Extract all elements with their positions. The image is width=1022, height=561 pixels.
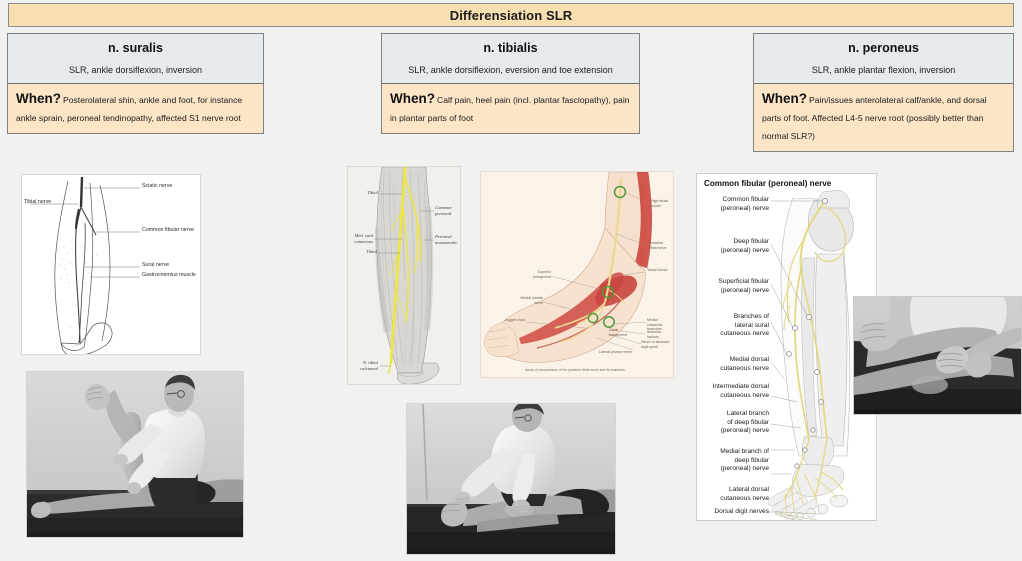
fib-label-intermediate-dorsal-cutaneous: Intermediate dorsal cutaneous nerve <box>697 383 769 400</box>
card-subtitle-peroneus: SLR, ankle plantar flexion, inversion <box>762 65 1005 75</box>
photo-slr-close-svg <box>854 297 1022 415</box>
figure-tarsal-tunnel-plate: High tarsal tunnel Posterior tibial nerv… <box>480 171 674 378</box>
photo-slr-test-ankle <box>406 403 616 555</box>
ts-label-joggers-foot: Jogger's foot <box>491 318 525 323</box>
gr-label-common-peroneal: Common peroneal <box>435 205 452 216</box>
ts-label-medial-plantar-nerve: Medial plantar nerve <box>505 296 543 305</box>
when-label-suralis: When? <box>16 91 61 106</box>
fib-label-deep-fibular-nerve: Deep fibular (peroneal) nerve <box>703 238 769 255</box>
label-tibial-nerve: Tibial nerve <box>24 199 51 205</box>
slide-canvas: Differensiation SLR n. suralis SLR, ankl… <box>0 0 1022 561</box>
ts-label-distal-entrapment: Distal entrapment <box>609 328 627 337</box>
gr-label-n-tibial-calcaneal: N. tibial calcaneal <box>352 360 378 371</box>
gr-label-tibial-lower: Tibial <box>360 249 377 255</box>
ts-label-high-tarsal-tunnel: High tarsal tunnel <box>651 199 668 208</box>
card-header-tibialis: n. tibialis SLR, ankle dorsiflexion, eve… <box>382 34 639 84</box>
figure-sural-nerve-line-drawing: Sciatic nerve Tibial nerve Common fibula… <box>21 174 201 355</box>
gr-label-peroneal-anastomotic: Peroneal anastomotic <box>435 234 457 245</box>
card-when-tibialis: When?Calf pain, heel pain (incl. plantar… <box>382 84 639 133</box>
card-title-tibialis: n. tibialis <box>390 41 631 55</box>
gr-label-tibial-upper: Tibial <box>358 190 378 196</box>
ts-label-nerve-to-abductor-digiti-quinti: Nerve to abductor digiti quinti <box>641 340 670 349</box>
figure-grays-tibial-nerve-plate: Tibial Common peroneal Med. surd cutaneo… <box>347 166 461 385</box>
when-label-tibialis: When? <box>390 91 435 106</box>
fib-label-lateral-branch-deep-fibular: Lateral branch of deep fibular (peroneal… <box>701 410 769 436</box>
photo-slr-test-knee <box>26 371 244 538</box>
fib-label-medial-branch-deep-fibular: Medial branch of deep fibular (peroneal)… <box>699 448 769 474</box>
card-title-peroneus: n. peroneus <box>762 41 1005 55</box>
label-common-fibular-nerve: Common fibular nerve <box>142 227 194 233</box>
photo-slr-foot-svg <box>407 404 616 555</box>
card-subtitle-tibialis: SLR, ankle dorsiflexion, eversion and to… <box>390 65 631 75</box>
card-title-suralis: n. suralis <box>16 41 255 55</box>
photo-slr-plantarflexion-closeup <box>853 296 1022 415</box>
ts-label-posterior-tibial-nerve: Posterior tibial nerve <box>649 241 666 250</box>
card-subtitle-suralis: SLR, ankle dorsiflexion, inversion <box>16 65 255 75</box>
page-title: Differensiation SLR <box>450 8 573 23</box>
card-when-suralis: When?Posterolateral shin, ankle and foot… <box>8 84 263 133</box>
photo-slr-knee-svg <box>27 372 244 538</box>
fib-label-dorsal-digit-nerves: Dorsal digit nerves <box>697 508 769 517</box>
grays-plate-svg <box>348 167 461 385</box>
figure-fibular-title: Common fibular (peroneal) nerve <box>704 179 831 188</box>
ts-label-tarsal-tunnel: Tarsal tunnel <box>647 268 667 273</box>
card-when-peroneus: When?Pain/issues anterolateral calf/ankl… <box>754 84 1013 151</box>
card-n-suralis: n. suralis SLR, ankle dorsiflexion, inve… <box>7 33 264 134</box>
ts-caption: Areas of compression of the posterior ti… <box>525 368 625 372</box>
fib-label-medial-dorsal-cutaneous: Medial dorsal cutaneous nerve <box>703 356 769 373</box>
fib-label-lateral-sural-cutaneous: Branches of lateral sural cutaneous nerv… <box>701 313 769 339</box>
when-label-peroneus: When? <box>762 91 807 106</box>
figure-common-fibular-nerve-chart: Common fibular (peroneal) nerve Common f… <box>696 173 877 521</box>
label-gastrocnemius-muscle: Gastrocnemius muscle <box>142 272 196 278</box>
fib-label-superficial-fibular-nerve: Superficial fibular (peroneal) nerve <box>699 278 769 295</box>
ts-label-lateral-plantar-nerve: Lateral plantar nerve <box>599 350 632 355</box>
gr-label-med-surd-cutaneous: Med. surd cutaneous <box>350 233 373 244</box>
label-sural-nerve: Sural nerve <box>142 262 169 268</box>
slide-title-banner: Differensiation SLR <box>8 3 1014 27</box>
card-header-peroneus: n. peroneus SLR, ankle plantar flexion, … <box>754 34 1013 84</box>
card-n-peroneus: n. peroneus SLR, ankle plantar flexion, … <box>753 33 1014 152</box>
label-sciatic-nerve: Sciatic nerve <box>142 183 172 189</box>
fib-label-common-fibular-nerve: Common fibular (peroneal) nerve <box>703 196 769 213</box>
ts-label-superior-entrapment: Superior entrapment <box>517 270 551 279</box>
ts-label-abductor-hallucis: Abductor hallucis <box>647 330 673 339</box>
card-header-suralis: n. suralis SLR, ankle dorsiflexion, inve… <box>8 34 263 84</box>
card-n-tibialis: n. tibialis SLR, ankle dorsiflexion, eve… <box>381 33 640 134</box>
fib-label-lateral-dorsal-cutaneous: Lateral dorsal cutaneous nerve <box>703 486 769 503</box>
